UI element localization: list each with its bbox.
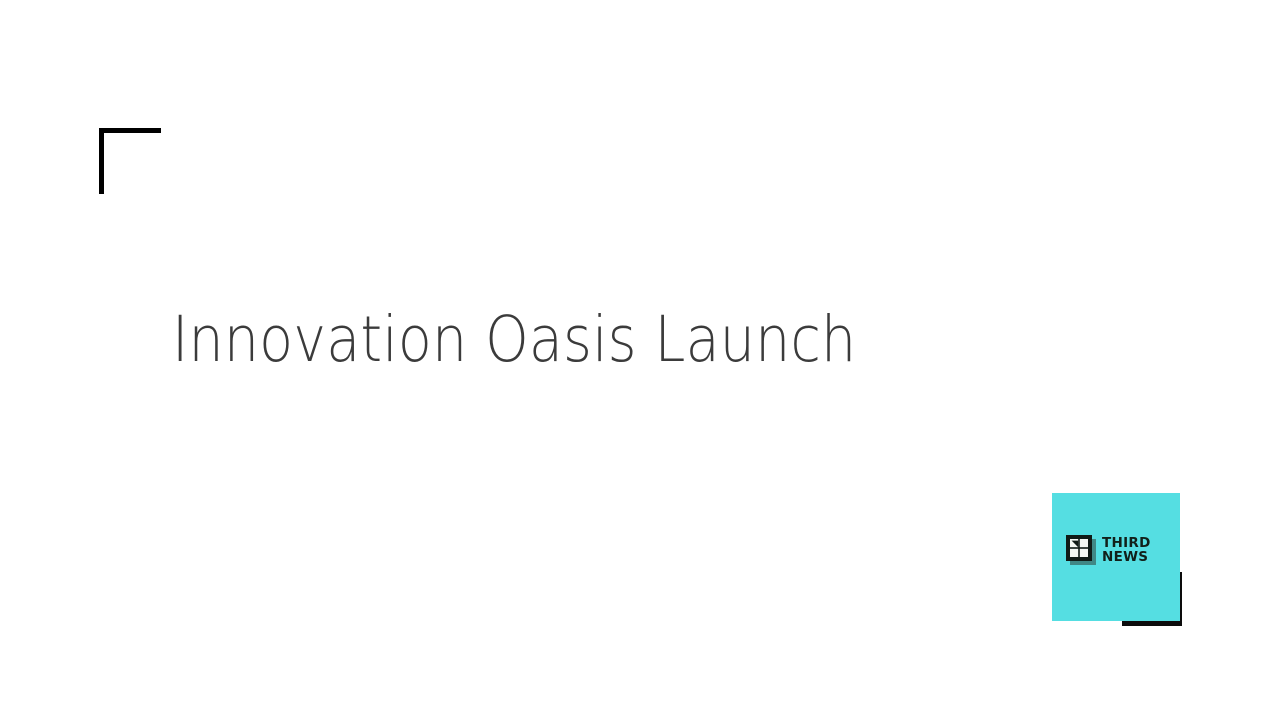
logo-wordmark: THIRD NEWS: [1102, 536, 1151, 565]
slide-canvas: Innovation Oasis Launch: [0, 0, 1280, 720]
logo-content: THIRD NEWS: [1066, 535, 1151, 565]
logo-tile: THIRD NEWS: [1052, 493, 1180, 621]
logo-wordmark-line-2: NEWS: [1102, 550, 1151, 565]
top-left-corner-bracket: [99, 128, 161, 194]
corner-bracket-horizontal-bar: [99, 128, 161, 133]
logo-lockup: THIRD NEWS: [1052, 493, 1182, 626]
slide-title: Innovation Oasis Launch: [172, 305, 964, 376]
corner-bracket-vertical-bar: [99, 128, 104, 194]
newspaper-window-icon-glyph: [1066, 535, 1092, 561]
logo-wordmark-line-1: THIRD: [1102, 536, 1151, 551]
newspaper-window-icon: [1066, 535, 1096, 565]
